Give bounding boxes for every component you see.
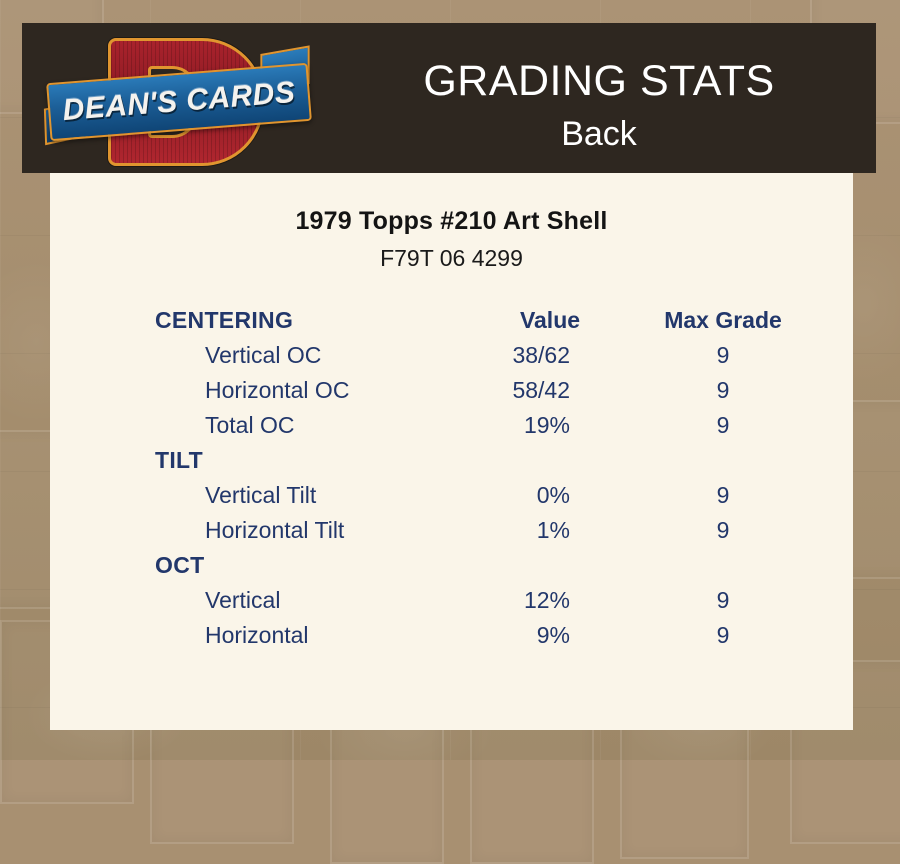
- table-row: Horizontal OC58/429: [50, 373, 853, 408]
- stat-label: Total OC: [205, 408, 294, 443]
- stats-section-header: OCT: [50, 548, 853, 583]
- logo-ribbon: DEAN'S CARDS: [46, 63, 312, 141]
- stat-label: Vertical Tilt: [205, 478, 316, 513]
- table-row: Vertical Tilt0%9: [50, 478, 853, 513]
- stats-section-header: TILT: [50, 443, 853, 478]
- stat-value: 0%: [450, 478, 570, 513]
- stats-section-title: OCT: [155, 548, 204, 583]
- stat-value: 9%: [450, 618, 570, 653]
- table-row: Total OC19%9: [50, 408, 853, 443]
- card-title: 1979 Topps #210 Art Shell: [50, 173, 853, 236]
- stat-max-grade: 9: [650, 373, 796, 408]
- stats-section-header: CENTERINGValueMax Grade: [50, 303, 853, 338]
- stat-value: 58/42: [450, 373, 570, 408]
- table-row: Vertical OC38/629: [50, 338, 853, 373]
- logo-brand-text: DEAN'S CARDS: [48, 65, 309, 139]
- stat-max-grade: 9: [650, 478, 796, 513]
- stats-section-title: TILT: [155, 443, 203, 478]
- stat-max-grade: 9: [650, 408, 796, 443]
- grading-stats-page: DEAN'S CARDS GRADING STATS Back 1979 Top…: [0, 0, 900, 760]
- stat-value: 1%: [450, 513, 570, 548]
- page-subtitle: Back: [322, 113, 876, 155]
- stat-max-grade: 9: [650, 338, 796, 373]
- page-title: GRADING STATS: [322, 55, 876, 107]
- grading-stats-table: CENTERINGValueMax GradeVertical OC38/629…: [50, 303, 853, 653]
- stat-max-grade: 9: [650, 513, 796, 548]
- table-row: Horizontal Tilt1%9: [50, 513, 853, 548]
- page-header: DEAN'S CARDS GRADING STATS Back: [22, 23, 876, 173]
- stat-label: Horizontal Tilt: [205, 513, 344, 548]
- stat-label: Vertical: [205, 583, 280, 618]
- stat-value: 19%: [450, 408, 570, 443]
- card-serial-number: F79T 06 4299: [50, 236, 853, 272]
- table-row: Horizontal9%9: [50, 618, 853, 653]
- stats-section-title: CENTERING: [155, 303, 293, 338]
- column-header-max-grade: Max Grade: [650, 303, 796, 338]
- stat-value: 38/62: [450, 338, 570, 373]
- stat-max-grade: 9: [650, 583, 796, 618]
- stat-label: Horizontal OC: [205, 373, 349, 408]
- content-panel: 1979 Topps #210 Art Shell F79T 06 4299 C…: [50, 173, 853, 730]
- stat-max-grade: 9: [650, 618, 796, 653]
- table-row: Vertical12%9: [50, 583, 853, 618]
- deans-cards-logo[interactable]: DEAN'S CARDS: [48, 26, 310, 170]
- column-header-value: Value: [490, 303, 610, 338]
- stat-value: 12%: [450, 583, 570, 618]
- stat-label: Horizontal: [205, 618, 309, 653]
- stat-label: Vertical OC: [205, 338, 321, 373]
